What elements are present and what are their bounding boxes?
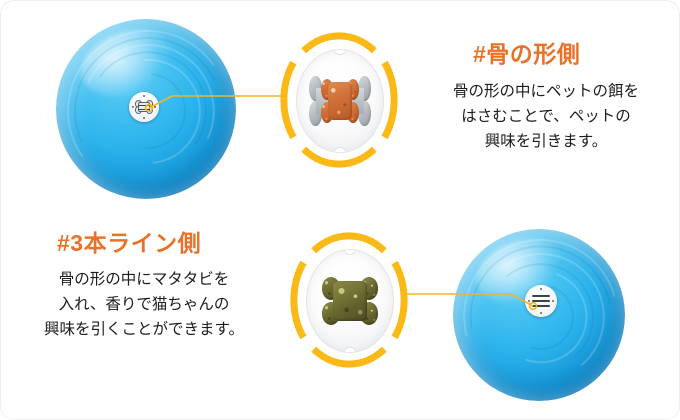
description-line: 骨の形の中にペットの餌を [421, 79, 671, 104]
three-line-slot-icon [532, 295, 550, 308]
disc-notch-bottom [343, 347, 356, 353]
cap-three-line-slot[interactable] [525, 285, 557, 317]
pet-food-treat [322, 79, 359, 124]
description-line: はさむことで、ペットの [421, 104, 671, 129]
product-feature-panel: #骨の形側 骨の形の中にペットの餌を はさむことで、ペットの 興味を引きます。 … [0, 0, 680, 420]
screw-dot [143, 95, 145, 97]
screw-dot [540, 288, 542, 290]
screw-dot [552, 300, 554, 302]
disc-notch-top [343, 249, 356, 255]
callout-disc [306, 249, 394, 353]
disc-notch-top [333, 49, 346, 55]
matatabi-filling [323, 277, 377, 324]
screw-dot [132, 106, 134, 108]
screw-dot [540, 312, 542, 314]
description-line: 興味を引くことができます。 [15, 317, 273, 342]
disc-notch-bottom [333, 147, 346, 153]
callout-disc [296, 49, 384, 153]
matatabi-bone-icon [323, 277, 377, 324]
heading-bone-shape-side: #骨の形側 [473, 35, 580, 69]
description-line: 入れ、香りで猫ちゃんの [15, 292, 273, 317]
cap-bone-slot[interactable] [129, 92, 159, 122]
description-bone-shape-side: 骨の形の中にペットの餌を はさむことで、ペットの 興味を引きます。 [421, 79, 671, 154]
bone-slot-icon [135, 100, 154, 114]
callout-bone-treat [279, 29, 399, 171]
screw-dot [143, 117, 145, 119]
heading-three-line-side: #3本ライン側 [57, 224, 201, 258]
screw-dot [154, 106, 156, 108]
callout-matatabi [289, 229, 409, 371]
screw-dot [528, 300, 530, 302]
bone-treat-icon [311, 75, 368, 126]
description-line: 骨の形の中にマタタビを [15, 267, 273, 292]
description-three-line-side: 骨の形の中にマタタビを 入れ、香りで猫ちゃんの 興味を引くことができます。 [15, 267, 273, 342]
description-line: 興味を引きます。 [421, 129, 671, 154]
